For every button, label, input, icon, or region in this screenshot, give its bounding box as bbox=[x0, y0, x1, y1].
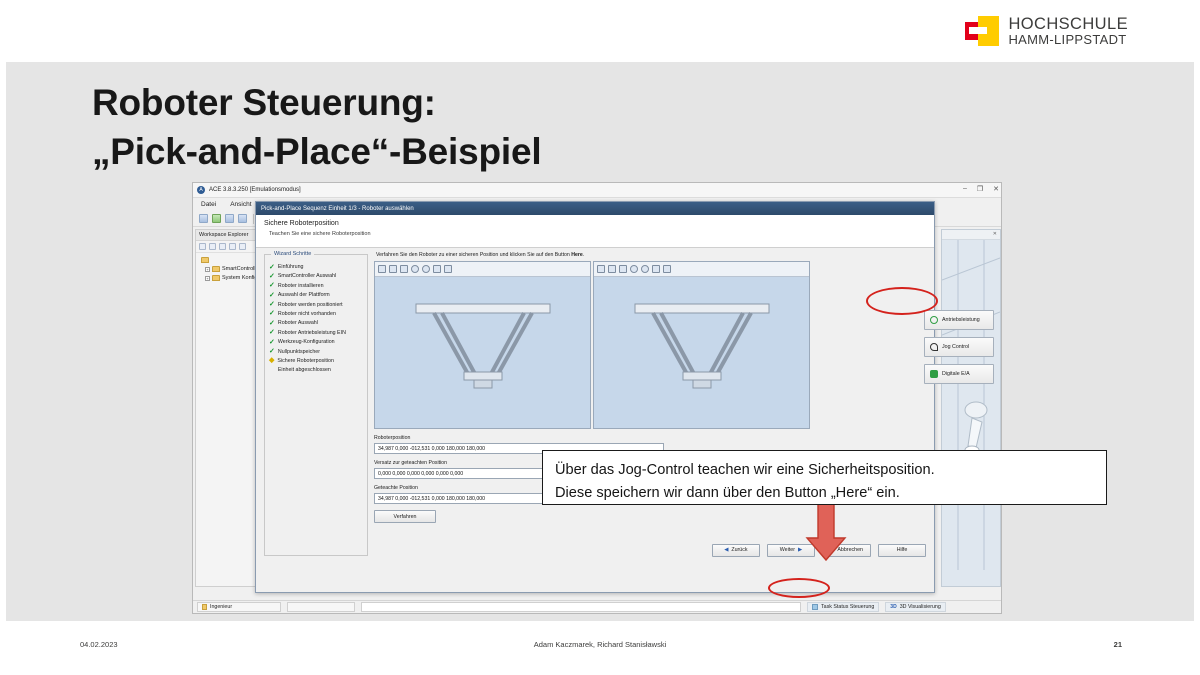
wizard-step-label: Roboter Auswahl bbox=[278, 320, 318, 326]
wizard-step: ✓Nullpunktspeicher bbox=[269, 349, 367, 355]
wizard-step-label: Werkzeug-Konfiguration bbox=[278, 339, 335, 345]
panel-close-icon[interactable]: ✕ bbox=[993, 231, 997, 237]
check-icon: ✓ bbox=[269, 330, 275, 335]
maximize-icon[interactable]: ❐ bbox=[977, 185, 983, 193]
page-title: Roboter Steuerung: „Pick-and-Place“-Beis… bbox=[92, 79, 852, 177]
app-title: ACE 3.8.3.250 [Emulationsmodus] bbox=[209, 187, 301, 193]
chevron-left-icon: ◀ bbox=[724, 547, 728, 553]
slide-left-margin bbox=[0, 62, 6, 621]
visualization-panel: ✕ bbox=[941, 229, 1001, 587]
app-statusbar: Ingenieur Task Status Steuerung 3D 3D Vi… bbox=[193, 600, 1002, 613]
logo-line-1: HOCHSCHULE bbox=[1008, 16, 1128, 33]
hilfe-button[interactable]: Hilfe bbox=[878, 544, 926, 557]
slide-right-margin bbox=[1194, 62, 1200, 621]
find-icon[interactable] bbox=[212, 214, 221, 223]
wizard-step-label: Einführung bbox=[278, 264, 304, 270]
pan-icon[interactable] bbox=[597, 265, 605, 273]
wizard-dialog-header: Sichere Roboterposition Teachen Sie eine… bbox=[256, 215, 934, 248]
cube-icon[interactable] bbox=[400, 265, 408, 273]
blank-icon: ✓ bbox=[269, 368, 275, 373]
wizard-step-label: Nullpunktspeicher bbox=[278, 349, 320, 355]
wizard-dialog: Pick-and-Place Sequenz Einheit 1/3 - Rob… bbox=[255, 201, 935, 593]
robot-viewport-right[interactable] bbox=[593, 261, 810, 429]
instruction-prefix: Verfahren Sie den Roboter zu einer siche… bbox=[376, 252, 571, 258]
side-button-label: Antriebsleistung bbox=[942, 317, 980, 323]
delta-robot-graphic bbox=[408, 300, 558, 420]
cursor-icon[interactable] bbox=[389, 265, 397, 273]
embedded-app-screenshot: A ACE 3.8.3.250 [Emulationsmodus] – ❐ ✕ … bbox=[192, 182, 1002, 614]
wizard-step-label: Auswahl der Plattform bbox=[278, 292, 330, 298]
wizard-step-current: ◆Sichere Roboterposition bbox=[269, 358, 367, 364]
wizard-step-label: Roboter werden positioniert bbox=[278, 302, 343, 308]
wizard-step-label: Sichere Roboterposition bbox=[277, 358, 334, 364]
callout-box: Über das Jog-Control teachen wir eine Si… bbox=[542, 450, 1107, 505]
power-icon bbox=[930, 316, 938, 324]
hshl-logo-mark bbox=[965, 16, 999, 46]
task-icon bbox=[812, 604, 818, 610]
pending-icon: ◆ bbox=[269, 358, 274, 363]
settings-icon[interactable] bbox=[444, 265, 452, 273]
check-icon: ✓ bbox=[269, 302, 275, 307]
grid-toggle-icon[interactable] bbox=[652, 265, 660, 273]
tab-3d-visualisierung[interactable]: 3D 3D Visualisierung bbox=[885, 602, 946, 612]
wizard-step-label: Einheit abgeschlossen bbox=[278, 367, 331, 373]
callout-line-1: Über das Jog-Control teachen wir eine Si… bbox=[555, 459, 1094, 482]
wizard-step: ✓Einführung bbox=[269, 264, 367, 270]
check-icon: ✓ bbox=[269, 321, 275, 326]
wizard-main-area: Verfahren Sie den Roboter zu einer siche… bbox=[374, 248, 814, 564]
grid-toggle-icon[interactable] bbox=[433, 265, 441, 273]
antriebsleistung-button[interactable]: Antriebsleistung bbox=[924, 310, 994, 330]
wizard-steps-legend: Wizard Schritte bbox=[271, 251, 314, 257]
open-icon[interactable] bbox=[209, 243, 216, 250]
abbrechen-button[interactable]: ✖ Abbrechen bbox=[822, 544, 871, 557]
wizard-subheading: Teachen Sie eine sichere Roboterposition bbox=[264, 231, 934, 237]
verfahren-button[interactable]: Verfahren bbox=[374, 510, 436, 523]
check-icon: ✓ bbox=[269, 274, 275, 279]
robot-viewport-left[interactable] bbox=[374, 261, 591, 429]
check-icon: ✓ bbox=[269, 265, 275, 270]
delete-icon[interactable] bbox=[219, 243, 226, 250]
wizard-step: ✓Roboter Antriebsleistung EIN bbox=[269, 330, 367, 336]
paste-icon[interactable] bbox=[239, 243, 246, 250]
rotate-icon[interactable] bbox=[630, 265, 638, 273]
minimize-icon[interactable]: – bbox=[963, 185, 967, 193]
viewport-toolbar[interactable] bbox=[594, 262, 809, 277]
app-titlebar: A ACE 3.8.3.250 [Emulationsmodus] – ❐ ✕ bbox=[193, 183, 1002, 198]
wizard-step: ✓Roboter Auswahl bbox=[269, 320, 367, 326]
button-label: Zurück bbox=[731, 547, 747, 553]
app-logo-icon: A bbox=[197, 186, 205, 194]
side-button-label: Digitale E/A bbox=[942, 371, 970, 377]
wizard-step: ✓Werkzeug-Konfiguration bbox=[269, 339, 367, 345]
chevron-right-icon: ▶ bbox=[798, 547, 802, 553]
copy-icon[interactable] bbox=[229, 243, 236, 250]
cube-icon[interactable] bbox=[619, 265, 627, 273]
field-label: Roboterposition bbox=[374, 435, 814, 441]
delta-robot-graphic bbox=[627, 300, 777, 420]
wizard-footer-buttons: ◀ Zurück Weiter ▶ ✖ Abbrechen Hilfe bbox=[256, 540, 936, 560]
wizard-step-label: Roboter nicht vorhanden bbox=[278, 311, 336, 317]
wizard-side-buttons: Antriebsleistung Jog Control Digitale E/… bbox=[924, 310, 1000, 391]
button-label: Abbrechen bbox=[837, 547, 863, 553]
wizard-step: ✓Roboter nicht vorhanden bbox=[269, 311, 367, 317]
zoom-icon[interactable] bbox=[422, 265, 430, 273]
page-title-line-1: Roboter Steuerung: bbox=[92, 79, 852, 128]
user-label: Ingenieur bbox=[210, 604, 232, 610]
monitor-icon[interactable] bbox=[238, 214, 247, 223]
check-icon: ✓ bbox=[269, 340, 275, 345]
window-controls[interactable]: – ❐ ✕ bbox=[963, 185, 999, 193]
cancel-icon: ✖ bbox=[830, 547, 834, 553]
digitale-ea-button[interactable]: Digitale E/A bbox=[924, 364, 994, 384]
button-label: Hilfe bbox=[897, 547, 908, 553]
button-label: Weiter bbox=[780, 547, 795, 553]
user-icon bbox=[202, 604, 207, 610]
status-message-cell bbox=[287, 602, 355, 612]
wizard-dialog-titlebar: Pick-and-Place Sequenz Einheit 1/3 - Rob… bbox=[256, 202, 934, 215]
status-input-cell[interactable] bbox=[361, 602, 801, 612]
wizard-step: ✓SmartController Auswahl bbox=[269, 273, 367, 279]
pan-icon[interactable] bbox=[378, 265, 386, 273]
footer-page-number: 21 bbox=[1114, 640, 1122, 649]
tab-label: Task Status Steuerung bbox=[821, 604, 874, 610]
wizard-step: ✓Roboter installieren bbox=[269, 283, 367, 289]
io-icon bbox=[930, 370, 938, 378]
tab-task-status-steuerung[interactable]: Task Status Steuerung bbox=[807, 602, 879, 612]
cube-icon: 3D bbox=[890, 604, 896, 610]
instruction-suffix: . bbox=[583, 252, 584, 258]
cursor-icon[interactable] bbox=[608, 265, 616, 273]
visualization-panel-header: ✕ bbox=[942, 230, 1000, 240]
jog-control-button[interactable]: Jog Control bbox=[924, 337, 994, 357]
save-icon[interactable] bbox=[199, 214, 208, 223]
user-status-cell[interactable]: Ingenieur bbox=[197, 602, 281, 612]
callout-line-2: Diese speichern wir dann über den Button… bbox=[555, 482, 1094, 505]
settings-icon[interactable] bbox=[663, 265, 671, 273]
menu-datei[interactable]: Datei bbox=[201, 201, 216, 208]
page-title-line-2: „Pick-and-Place“-Beispiel bbox=[92, 128, 852, 177]
viewport-toolbar[interactable] bbox=[375, 262, 590, 277]
tab-label: 3D Visualisierung bbox=[900, 604, 941, 610]
check-icon: ✓ bbox=[269, 349, 275, 354]
wizard-dialog-title: Pick-and-Place Sequenz Einheit 1/3 - Rob… bbox=[261, 206, 414, 212]
new-icon[interactable] bbox=[199, 243, 206, 250]
rotate-icon[interactable] bbox=[411, 265, 419, 273]
weiter-button[interactable]: Weiter ▶ bbox=[767, 544, 815, 557]
instruction-bold: Here bbox=[571, 252, 583, 258]
wizard-heading: Sichere Roboterposition bbox=[264, 220, 934, 227]
network-icon[interactable] bbox=[225, 214, 234, 223]
wizard-step-label: SmartController Auswahl bbox=[278, 273, 336, 279]
check-icon: ✓ bbox=[269, 283, 275, 288]
footer-authors: Adam Kaczmarek, Richard Stanisławski bbox=[0, 640, 1200, 649]
side-button-label: Jog Control bbox=[942, 344, 969, 350]
hshl-logo: HOCHSCHULE HAMM-LIPPSTADT bbox=[965, 16, 1128, 47]
jog-icon bbox=[930, 343, 938, 351]
zoom-icon[interactable] bbox=[641, 265, 649, 273]
wizard-step: ✓Roboter werden positioniert bbox=[269, 302, 367, 308]
wizard-step: ✓Auswahl der Plattform bbox=[269, 292, 367, 298]
workspace-explorer-title: Workspace Explorer bbox=[199, 232, 248, 238]
wizard-steps-list: ✓Einführung ✓SmartController Auswahl ✓Ro… bbox=[265, 255, 367, 373]
wizard-step-label: Roboter installieren bbox=[278, 283, 324, 289]
wizard-step-label: Roboter Antriebsleistung EIN bbox=[278, 330, 346, 336]
3d-scene-graphic bbox=[942, 240, 1000, 570]
robot-viewports bbox=[374, 261, 814, 429]
logo-line-2: HAMM-LIPPSTADT bbox=[1008, 33, 1128, 47]
wizard-instruction: Verfahren Sie den Roboter zu einer siche… bbox=[374, 248, 814, 261]
wizard-step: ✓Einheit abgeschlossen bbox=[269, 367, 367, 373]
close-icon[interactable]: ✕ bbox=[993, 185, 999, 193]
zurueck-button[interactable]: ◀ Zurück bbox=[712, 544, 760, 557]
check-icon: ✓ bbox=[269, 293, 275, 298]
check-icon: ✓ bbox=[269, 311, 275, 316]
menu-ansicht[interactable]: Ansicht bbox=[230, 201, 251, 208]
wizard-steps-panel: Wizard Schritte ✓Einführung ✓SmartContro… bbox=[264, 254, 368, 556]
